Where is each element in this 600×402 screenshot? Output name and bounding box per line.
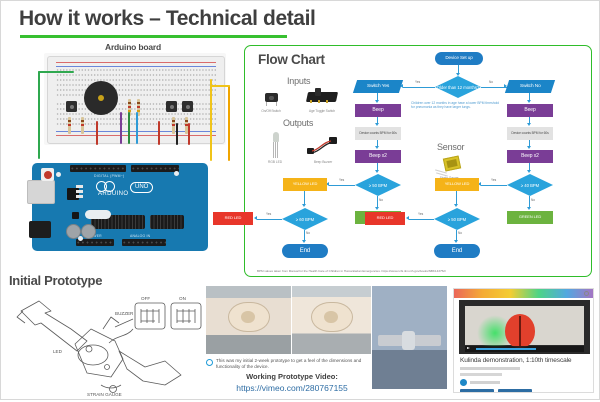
svg-text:LED: LED [53, 349, 63, 354]
flow-chart-citation: BPM values taken from Manual for the Hea… [257, 269, 446, 273]
edge-label-yes-left: Yes [415, 80, 420, 84]
edge-label-no-right-top: No [531, 198, 535, 202]
worn-device-photo [372, 286, 447, 389]
input-label-0: On/Off Switch [247, 109, 295, 113]
node-end-left: End [282, 244, 328, 258]
node-yellow-led-left: YELLOW LED [283, 178, 327, 191]
prototype-sketch: OFF ON LED BUZZER STRAIN GAUGE [15, 289, 205, 397]
search-icon[interactable] [584, 291, 589, 296]
node-switch-yes-label: Switch Yes [367, 84, 389, 89]
channel-avatar [460, 379, 467, 386]
node-switch-no: Switch No [505, 80, 555, 93]
prototype-photo-1 [206, 286, 291, 354]
age-threshold-note: Children over 12 months in age have a lo… [411, 101, 503, 110]
rgb-led-icon [271, 132, 280, 158]
tactile-switch-right [182, 101, 193, 112]
svg-text:STRAIN GAUGE: STRAIN GAUGE [87, 392, 122, 397]
breadboard-figure [44, 53, 226, 145]
shield-cutout [85, 210, 111, 219]
edge-label-yes-right-top: Yes [491, 178, 496, 182]
player-controls[interactable] [465, 346, 584, 352]
flow-chart-title: Flow Chart [258, 52, 325, 67]
reset-button [41, 168, 54, 181]
decision-right-top: ≥ 40 BPM [507, 174, 553, 196]
uno-badge: UNO [130, 182, 153, 193]
silk-analog: ANALOG IN [130, 234, 150, 238]
tactile-switch-mid [166, 101, 177, 112]
decision-right-bottom-label: ≥ 50 BPM [434, 208, 480, 230]
video-title: Kulinda demonstration, 1:10th timescale [460, 357, 590, 364]
tactile-switch-left [66, 101, 77, 112]
decision-left-top: ≥ 50 BPM [355, 174, 401, 196]
arduino-uno-board: DIGITAL (PWM~) POWER ANALOG IN ARDUINO U… [32, 163, 208, 251]
buzzer-icon [307, 136, 337, 156]
flow-chart-panel: Flow Chart Inputs On/Off Switch Age Togg… [244, 45, 592, 277]
power-jack [29, 221, 51, 238]
decision-right-bottom: ≥ 50 BPM [434, 208, 480, 230]
share-button[interactable] [498, 389, 532, 393]
video-meta-line-1 [460, 367, 520, 370]
node-switch-no-label: Switch No [520, 84, 541, 89]
prototype-caption-text: This was my initial 2-week prototype to … [216, 358, 376, 370]
section-heading-inputs: Inputs [287, 76, 310, 86]
video-frame [465, 306, 584, 345]
buzzer-component [84, 81, 118, 115]
decision-left-bottom: ≥ 60 BPM [282, 208, 328, 230]
node-end-right: End [434, 244, 480, 258]
node-start: Device Set up [435, 52, 483, 65]
arduino-wordmark: ARDUINO [98, 191, 128, 197]
edge-label-no-left-bottom: No [306, 231, 310, 235]
svg-text:OFF: OFF [141, 296, 150, 301]
edge-label-yes-left-top: Yes [339, 178, 344, 182]
slide-canvas: How it works – Technical detail Arduino … [0, 0, 600, 400]
play-icon[interactable] [467, 347, 470, 349]
prototype-photo-2 [292, 286, 371, 354]
output-label-1: Beep Buzzer [301, 160, 345, 164]
slide-switch-icon [307, 88, 337, 105]
subscribe-button[interactable] [460, 389, 494, 393]
node-beep2-right: Beep x2 [507, 150, 553, 163]
working-video-label: Working Prototype Video: [206, 372, 378, 381]
node-red-led-left: RED LED [213, 212, 253, 225]
edge-label-no-left-top: No [379, 198, 383, 202]
kulinda-device [505, 314, 535, 348]
browser-color-bar [454, 289, 594, 298]
edge-label-no-right-bottom: No [458, 231, 462, 235]
node-count-left: Device counts BPM for 60s [355, 127, 401, 140]
channel-name-placeholder [470, 381, 500, 384]
edge-label-yes-left-bottom: Yes [266, 212, 271, 216]
edge-label-yes-right-bottom: Yes [418, 212, 423, 216]
decision-age-label: Older than 12 months? [435, 76, 481, 98]
svg-text:ON: ON [179, 296, 186, 301]
output-label-0: RGB LED [253, 160, 297, 164]
svg-text:BUZZER: BUZZER [115, 311, 134, 316]
node-beep-left: Beep [355, 104, 401, 117]
strain-gauge-icon [437, 156, 461, 176]
node-green-led-right: GREEN LED [507, 211, 553, 224]
prototype-title: Initial Prototype [9, 273, 102, 288]
working-video-url[interactable]: https://vimeo.com/280767155 [206, 383, 378, 393]
page-title: How it works – Technical detail [19, 7, 315, 31]
section-heading-outputs: Outputs [283, 118, 313, 128]
silk-digital: DIGITAL (PWM~) [94, 174, 124, 178]
arduino-board-label: Arduino board [105, 42, 161, 52]
tactile-switch-icon [263, 91, 280, 105]
node-yellow-led-right: YELLOW LED [435, 178, 479, 191]
section-heading-sensor: Sensor [437, 142, 464, 152]
youtube-embed-panel[interactable]: Kulinda demonstration, 1:10th timescale [453, 288, 594, 393]
decision-left-top-label: ≥ 50 BPM [355, 174, 401, 196]
decision-right-top-label: ≥ 40 BPM [507, 174, 553, 196]
decision-age: Older than 12 months? [435, 76, 481, 98]
title-underline [20, 35, 287, 38]
info-bullet-icon [206, 359, 213, 366]
decision-left-bottom-label: ≥ 60 BPM [282, 208, 328, 230]
edge-label-no-right: No [489, 80, 493, 84]
video-meta-line-2 [460, 373, 502, 376]
video-player[interactable] [459, 300, 590, 354]
progress-bar[interactable] [476, 348, 536, 349]
node-count-right: Device counts BPM for 60s [507, 127, 553, 140]
usb-port [27, 180, 55, 204]
input-label-1: Age Toggle Switch [298, 109, 346, 113]
node-beep-right: Beep [507, 104, 553, 117]
node-red-led-right: RED LED [365, 212, 405, 225]
node-beep2-left: Beep x2 [355, 150, 401, 163]
breadboard [47, 56, 225, 144]
node-switch-yes: Switch Yes [353, 80, 403, 93]
